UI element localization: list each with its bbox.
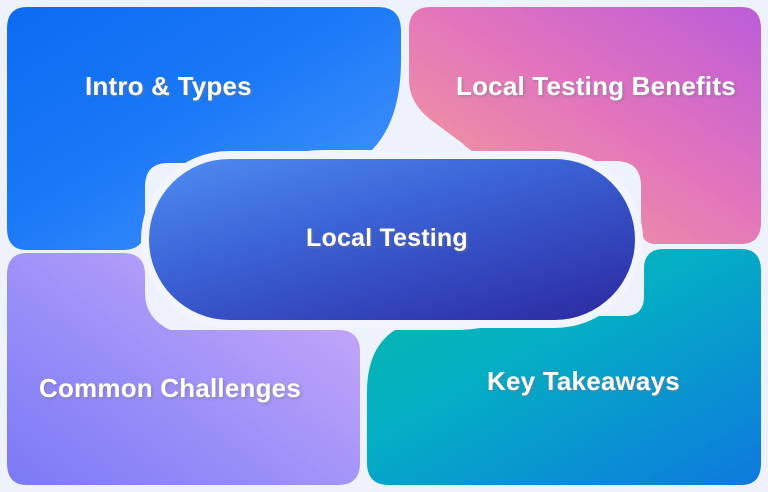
branch-label-common-challenges: Common Challenges xyxy=(39,375,301,401)
mind-map-canvas: Intro & Types Local Testing Benefits Loc… xyxy=(0,0,768,492)
branch-label-intro-types: Intro & Types xyxy=(85,73,252,99)
branch-label-local-testing-benefits: Local Testing Benefits xyxy=(456,73,736,99)
branch-label-key-takeaways: Key Takeaways xyxy=(487,368,680,394)
center-label-local-testing: Local Testing xyxy=(306,226,468,251)
